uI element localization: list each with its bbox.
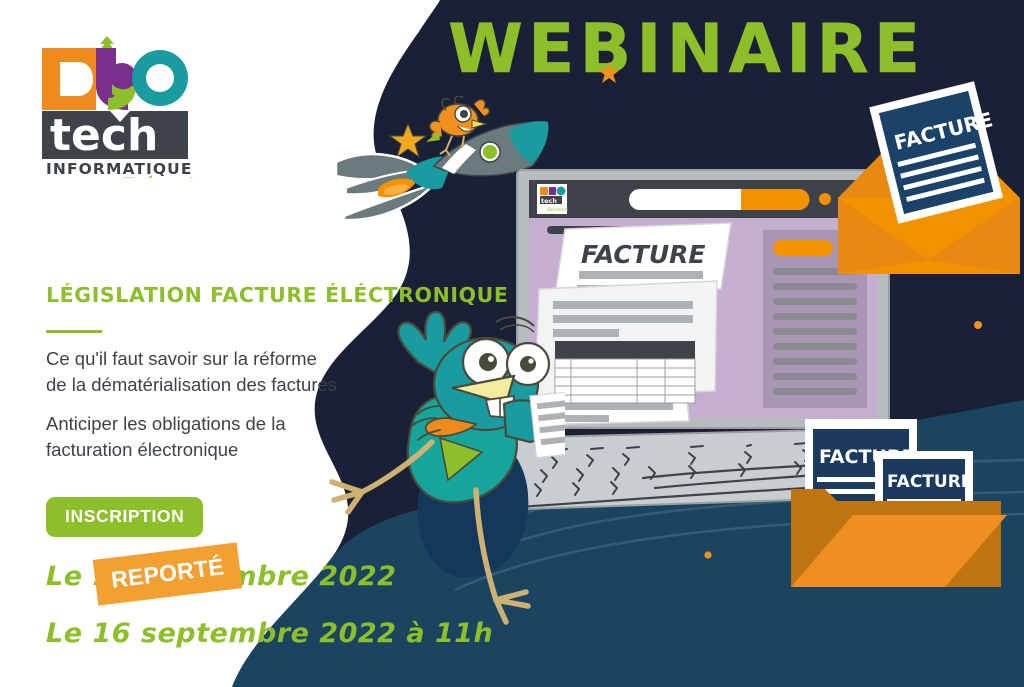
inscription-button[interactable]: INSCRIPTION [46, 497, 203, 537]
paragraph-two-line-2: facturation électronique [46, 437, 286, 463]
new-date: Le 16 septembre 2022 à 11h [46, 618, 493, 649]
paragraph-one-line-2: de la dématérialisation des factures [46, 372, 337, 398]
section-heading: LÉGISLATION FACTURE ÉLÉCTRONIQUE [46, 283, 508, 307]
paragraph-two-line-1: Anticiper les obligations de la [46, 411, 286, 437]
decor-dot-icon [974, 321, 982, 329]
paragraph-one: Ce qu'il faut savoir sur la réforme de l… [46, 346, 337, 399]
paragraph-two: Anticiper les obligations de la facturat… [46, 411, 286, 464]
heading-divider [46, 330, 102, 333]
decor-dot-icon [704, 551, 711, 558]
paragraph-one-line-1: Ce qu'il faut savoir sur la réforme [46, 346, 337, 372]
webinar-poster: tech INFORMATIQUE Réunion WEBINAIRE [0, 0, 1024, 687]
